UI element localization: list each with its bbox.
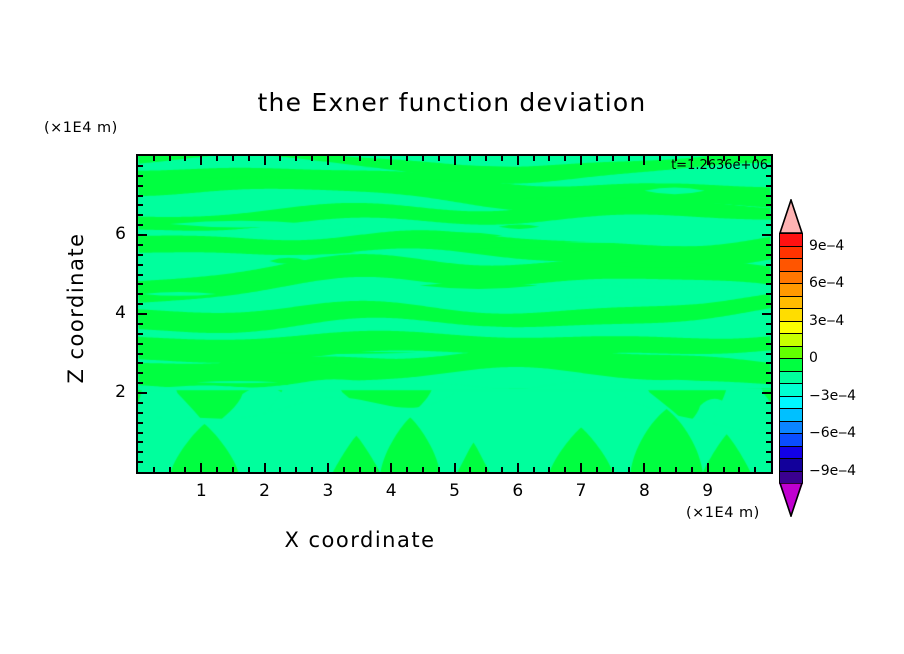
z-tick-right [766,441,771,443]
z-tick-left [138,195,143,197]
x-tick-bottom [501,467,503,472]
z-tick-label: 6 [92,224,126,244]
x-tick-top [374,156,376,161]
z-tick-right [766,422,771,424]
x-tick-bottom [564,467,566,472]
x-tick-bottom [612,467,614,472]
colorbar-band [779,358,803,372]
z-tick-left [138,274,143,276]
z-tick-right [766,283,771,285]
x-tick-label: 8 [624,481,664,501]
z-tick-left [138,323,143,325]
z-tick-right [766,372,771,374]
z-tick-left [138,441,143,443]
x-tick-bottom [343,467,345,472]
x-tick-top [184,156,186,161]
x-tick-top [422,156,424,161]
colorbar-band [779,421,803,435]
x-tick-bottom [422,467,424,472]
colorbar-band [779,383,803,397]
colorbar-band [779,408,803,422]
colorbar-band [779,321,803,335]
x-tick-bottom [723,467,725,472]
z-tick-right [766,432,771,434]
z-tick-right [762,392,771,394]
z-tick-left [138,224,143,226]
x-tick-label: 5 [435,481,475,501]
x-tick-top [469,156,471,161]
z-tick-left [138,244,143,246]
x-tick-label: 1 [181,481,221,501]
colorbar-band [779,283,803,297]
z-tick-label: 2 [92,382,126,402]
z-tick-right [766,333,771,335]
z-tick-left [138,392,147,394]
z-tick-left [138,264,143,266]
z-tick-left [138,412,143,414]
x-tick-bottom [390,463,392,472]
x-tick-bottom [359,467,361,472]
x-tick-label: 9 [688,481,728,501]
x-tick-bottom [153,467,155,472]
x-tick-bottom [200,463,202,472]
x-tick-bottom [675,467,677,472]
z-tick-left [138,402,143,404]
z-tick-left [138,343,143,345]
x-tick-bottom [643,463,645,472]
z-tick-right [766,451,771,453]
x-tick-top [548,156,550,161]
x-tick-label: 7 [561,481,601,501]
x-tick-top [295,156,297,161]
colorbar-band [779,271,803,285]
x-tick-top [564,156,566,161]
x-tick-top [311,156,313,161]
z-tick-left [138,451,143,453]
x-tick-bottom [327,463,329,472]
colorbar-over-arrow-outline [779,199,803,233]
x-tick-label: 6 [498,481,538,501]
z-tick-left [138,303,143,305]
x-tick-bottom [738,467,740,472]
contour-field-canvas [138,156,771,472]
colorbar-band [779,371,803,385]
x-tick-bottom [596,467,598,472]
page-title: the Exner function deviation [0,88,904,117]
colorbar-tick-label: 0 [809,350,818,366]
x-tick-top [628,156,630,161]
colorbar [779,199,803,517]
x-tick-bottom [279,467,281,472]
z-tick-right [766,244,771,246]
colorbar-band [779,458,803,472]
x-tick-bottom [517,463,519,472]
x-tick-bottom [754,467,756,472]
x-tick-bottom [184,467,186,472]
x-tick-bottom [580,463,582,472]
z-tick-right [766,362,771,364]
x-tick-bottom [374,467,376,472]
x-tick-bottom [691,467,693,472]
x-tick-top [612,156,614,161]
x-tick-top [501,156,503,161]
z-tick-right [766,254,771,256]
z-tick-right [766,461,771,463]
colorbar-band [779,471,803,485]
x-tick-top [169,156,171,161]
z-tick-right [766,264,771,266]
z-tick-left [138,234,147,236]
x-tick-top [153,156,155,161]
x-tick-bottom [216,467,218,472]
z-tick-left [138,422,143,424]
colorbar-tick-label: −3e‒4 [809,388,856,404]
x-tick-bottom [548,467,550,472]
colorbar-band [779,333,803,347]
z-tick-right [766,195,771,197]
colorbar-tick-label: −9e‒4 [809,463,856,479]
x-tick-bottom [311,467,313,472]
z-tick-right [766,175,771,177]
contour-plot-area: t=1.2636e+06 [136,154,773,474]
x-tick-top [248,156,250,161]
x-tick-label: 4 [371,481,411,501]
z-tick-right [766,323,771,325]
z-tick-right [766,303,771,305]
x-tick-top [264,156,266,165]
x-tick-bottom [169,467,171,472]
x-tick-top [438,156,440,161]
z-tick-right [762,313,771,315]
colorbar-band [779,233,803,247]
x-tick-bottom [469,467,471,472]
x-axis-title: X coordinate [0,528,720,552]
z-tick-left [138,313,147,315]
z-tick-right [766,382,771,384]
colorbar-band [779,346,803,360]
x-tick-top [580,156,582,165]
colorbar-band [779,396,803,410]
x-tick-top [533,156,535,161]
x-tick-bottom [533,467,535,472]
z-tick-left [138,165,143,167]
colorbar-band [779,258,803,272]
x-tick-bottom [295,467,297,472]
x-tick-top [596,156,598,161]
z-tick-right [766,353,771,355]
x-tick-top [390,156,392,165]
x-tick-bottom [628,467,630,472]
z-axis-unit-label: (×1E4 m) [44,120,118,136]
x-tick-bottom [232,467,234,472]
x-tick-top [279,156,281,161]
x-tick-bottom [406,467,408,472]
z-tick-right [766,402,771,404]
colorbar-tick-label: 3e‒4 [809,313,844,329]
z-tick-left [138,333,143,335]
colorbar-band [779,246,803,260]
z-tick-right [766,204,771,206]
colorbar-band [779,446,803,460]
x-tick-bottom [659,467,661,472]
x-tick-top [216,156,218,161]
x-tick-bottom [485,467,487,472]
x-tick-label: 2 [245,481,285,501]
z-tick-left [138,353,143,355]
z-tick-right [766,412,771,414]
colorbar-tick-label: −6e‒4 [809,425,856,441]
z-tick-left [138,362,143,364]
x-tick-bottom [248,467,250,472]
colorbar-tick-label: 9e‒4 [809,238,844,254]
colorbar-band [779,296,803,310]
z-tick-left [138,382,143,384]
x-tick-top [343,156,345,161]
colorbar-band [779,308,803,322]
x-tick-top [659,156,661,161]
z-tick-right [766,185,771,187]
z-tick-right [766,343,771,345]
z-tick-left [138,175,143,177]
timestamp-annotation: t=1.2636e+06 [671,158,768,173]
z-tick-right [766,293,771,295]
x-tick-top [454,156,456,165]
x-tick-top [327,156,329,165]
x-tick-top [517,156,519,165]
z-tick-right [766,214,771,216]
x-tick-bottom [264,463,266,472]
z-tick-right [762,234,771,236]
z-tick-label: 4 [92,303,126,323]
x-tick-top [359,156,361,161]
x-tick-label: 3 [308,481,348,501]
colorbar-band [779,433,803,447]
z-tick-left [138,214,143,216]
x-tick-top [200,156,202,165]
z-tick-left [138,283,143,285]
x-tick-top [232,156,234,161]
z-tick-left [138,372,143,374]
z-tick-left [138,185,143,187]
x-tick-bottom [438,467,440,472]
x-tick-bottom [454,463,456,472]
z-tick-left [138,204,143,206]
z-tick-left [138,461,143,463]
z-tick-left [138,254,143,256]
x-axis-unit-label: (×1E4 m) [686,505,760,521]
x-tick-top [406,156,408,161]
colorbar-under-arrow-outline [779,483,803,517]
colorbar-tick-label: 6e‒4 [809,275,844,291]
x-tick-top [643,156,645,165]
z-tick-left [138,293,143,295]
x-tick-top [485,156,487,161]
z-tick-right [766,274,771,276]
z-axis-title: Z coordinate [64,188,88,428]
z-tick-right [766,224,771,226]
z-tick-left [138,432,143,434]
x-tick-bottom [707,463,709,472]
